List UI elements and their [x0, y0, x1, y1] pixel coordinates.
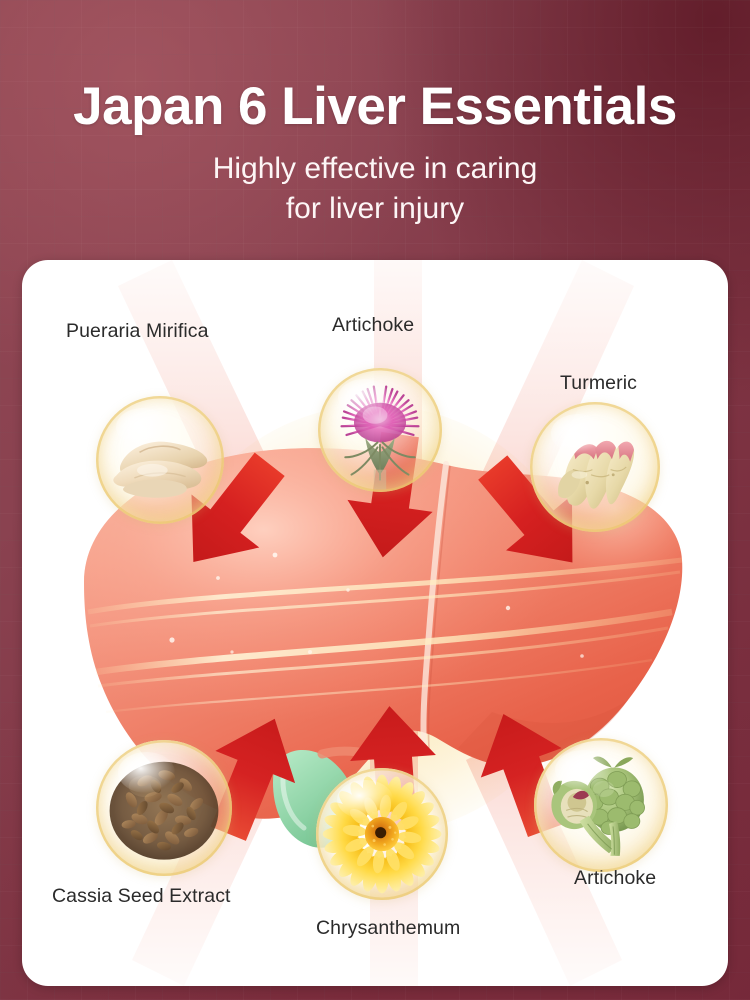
chrysanthemum-flower-icon	[316, 768, 448, 900]
ingredient-label-artichoke-bottom: Artichoke	[574, 867, 656, 890]
ingredient-label-chrysanthemum: Chrysanthemum	[316, 917, 460, 940]
root-slices-icon	[96, 396, 224, 524]
ingredient-bubble-cassia-seed-extract[interactable]	[96, 740, 232, 876]
ingredient-bubble-chrysanthemum[interactable]	[316, 768, 448, 900]
turmeric-rhizome-icon	[530, 402, 660, 532]
content-card: Pueraria Mirifica Artichoke Turmeric Cas…	[22, 260, 728, 986]
thistle-flower-icon	[318, 368, 442, 492]
ingredient-label-artichoke-top: Artichoke	[332, 314, 414, 337]
page-title: Japan 6 Liver Essentials	[0, 76, 750, 137]
ingredient-bubble-artichoke-top[interactable]	[318, 368, 442, 492]
ingredient-bubble-pueraria-mirifica[interactable]	[96, 396, 224, 524]
subtitle-line-2: for liver injury	[0, 189, 750, 229]
artichoke-vegetable-icon	[534, 738, 668, 872]
ingredient-label-cassia-seed-extract: Cassia Seed Extract	[52, 885, 231, 908]
header: Japan 6 Liver Essentials Highly effectiv…	[0, 0, 750, 229]
page-subtitle: Highly effective in caring for liver inj…	[0, 149, 750, 229]
ingredient-label-turmeric: Turmeric	[560, 372, 637, 395]
ingredient-bubble-turmeric[interactable]	[530, 402, 660, 532]
cassia-seeds-icon	[96, 740, 232, 876]
ingredient-label-pueraria-mirifica: Pueraria Mirifica	[66, 320, 209, 343]
subtitle-line-1: Highly effective in caring	[0, 149, 750, 189]
ingredient-bubble-artichoke-bottom[interactable]	[534, 738, 668, 872]
